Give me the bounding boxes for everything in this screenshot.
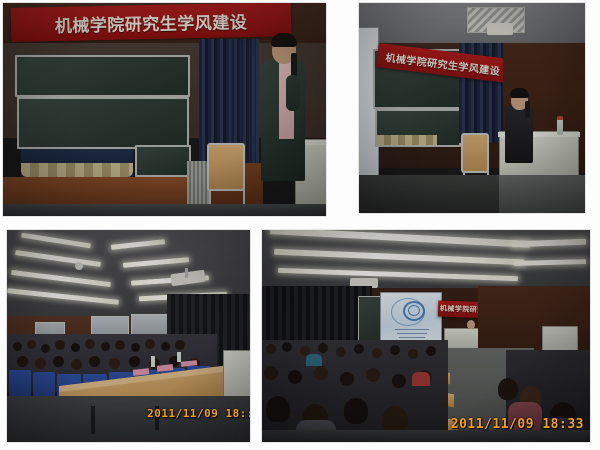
photo-collage: 机械学院研究生学风建设 bbox=[0, 0, 600, 450]
projector-arm bbox=[185, 268, 188, 278]
chalkboard-lower bbox=[17, 97, 189, 149]
jacket-teal bbox=[306, 354, 322, 366]
floor-dark-left bbox=[359, 175, 499, 213]
water-bottle bbox=[151, 356, 155, 367]
speaker-hair bbox=[271, 33, 297, 47]
radiator bbox=[187, 161, 209, 205]
photo-bottom-right[interactable]: 机械学院研究生学风建设 bbox=[261, 229, 591, 443]
speaker-hair bbox=[510, 88, 529, 98]
timestamp-bottom-right: 2011/11/09 18:33 bbox=[451, 417, 584, 432]
water-bottle bbox=[177, 352, 181, 362]
desk-leg bbox=[91, 406, 95, 434]
valance-strip bbox=[377, 135, 437, 145]
chair bbox=[461, 133, 489, 173]
water-bottle bbox=[557, 119, 563, 135]
ceiling-dome-light bbox=[75, 262, 83, 270]
speaker-head bbox=[467, 320, 475, 329]
bottle-cap bbox=[557, 116, 563, 120]
speaker-arm bbox=[286, 75, 300, 111]
projection-screen bbox=[380, 292, 442, 346]
photo-top-right[interactable]: 机械学院研究生学风建设 bbox=[358, 2, 586, 214]
jacket-red bbox=[412, 372, 430, 386]
audience-left bbox=[262, 340, 448, 443]
wood-wall bbox=[3, 177, 203, 207]
timestamp-bottom-left: 2011/11/09 18:: bbox=[147, 407, 251, 420]
chalkboard-side bbox=[135, 145, 191, 177]
banner-text: 机械学院研究生学风建设 bbox=[55, 7, 248, 36]
chalkboard-upper bbox=[15, 55, 190, 97]
podium bbox=[444, 328, 480, 350]
microphone bbox=[525, 101, 530, 118]
valance bbox=[21, 163, 133, 177]
ceiling-projector bbox=[487, 23, 513, 35]
chair bbox=[207, 143, 245, 191]
photo-bottom-left[interactable]: 2011/11/09 18:: bbox=[6, 229, 251, 443]
banner-top-left: 机械学院研究生学风建设 bbox=[11, 2, 292, 42]
photo-top-left[interactable]: 机械学院研究生学风建设 bbox=[2, 2, 327, 217]
